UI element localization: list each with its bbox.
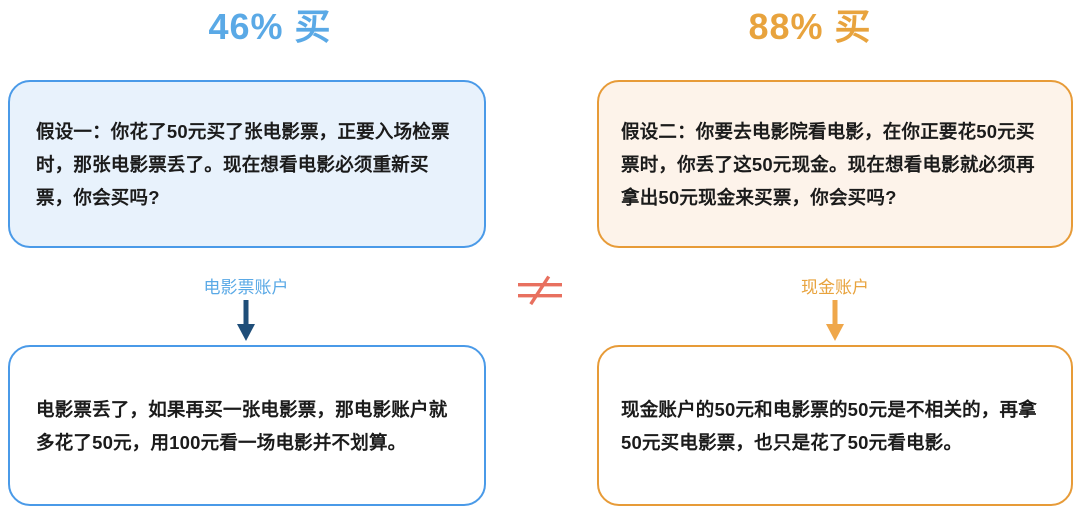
heading-left-percentage: 46% 买 <box>0 2 540 52</box>
heading-right-percentage: 88% 买 <box>540 2 1080 52</box>
arrow-down-icon-left <box>233 300 259 342</box>
premise-text-right: 假设二：你要去电影院看电影，在你正要花50元买票时，你丢了这50元现金。现在想看… <box>621 115 1049 214</box>
not-equal-icon <box>512 268 568 312</box>
account-label-left: 电影票账户 <box>186 277 306 299</box>
conclusion-box-right: 现金账户的50元和电影票的50元是不相关的，再拿50元买电影票，也只是花了50元… <box>597 345 1073 506</box>
not-equal-sign <box>512 268 568 312</box>
premise-box-right: 假设二：你要去电影院看电影，在你正要花50元买票时，你丢了这50元现金。现在想看… <box>597 80 1073 248</box>
arrow-down-icon <box>233 300 259 342</box>
arrow-down-icon <box>822 300 848 342</box>
conclusion-text-right: 现金账户的50元和电影票的50元是不相关的，再拿50元买电影票，也只是花了50元… <box>621 393 1049 459</box>
infographic-canvas: 46% 买 88% 买 假设一：你花了50元买了张电影票，正要入场检票时，那张电… <box>0 0 1080 519</box>
premise-box-left: 假设一：你花了50元买了张电影票，正要入场检票时，那张电影票丢了。现在想看电影必… <box>8 80 486 248</box>
account-label-right: 现金账户 <box>775 277 895 299</box>
conclusion-text-left: 电影票丢了，如果再买一张电影票，那电影账户就多花了50元，用100元看一场电影并… <box>36 393 458 459</box>
arrow-down-icon-right <box>822 300 848 342</box>
premise-text-left: 假设一：你花了50元买了张电影票，正要入场检票时，那张电影票丢了。现在想看电影必… <box>36 115 458 214</box>
conclusion-box-left: 电影票丢了，如果再买一张电影票，那电影账户就多花了50元，用100元看一场电影并… <box>8 345 486 506</box>
